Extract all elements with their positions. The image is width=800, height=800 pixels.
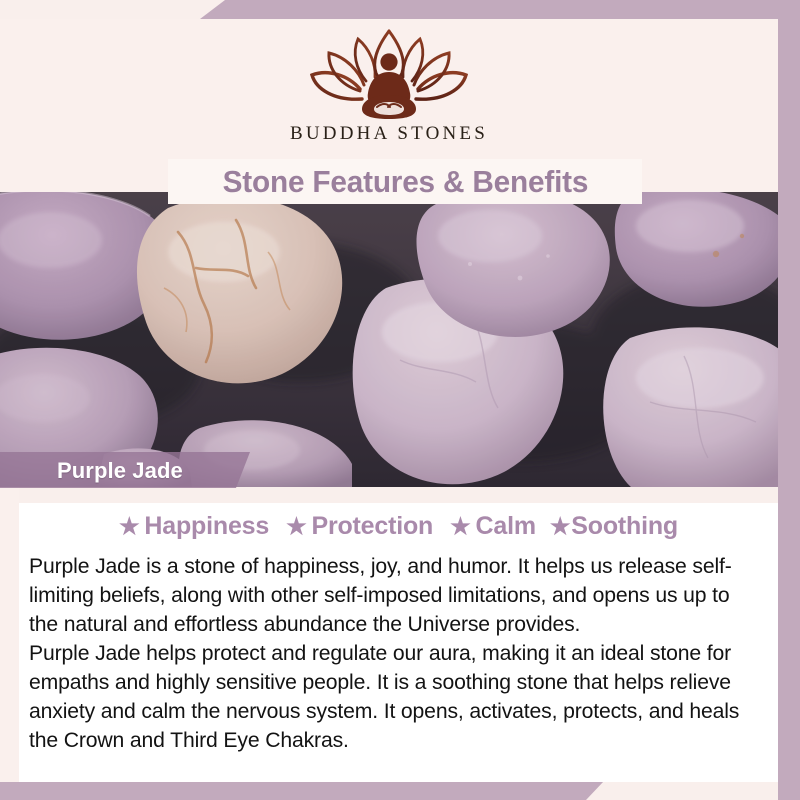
- page-title: Stone Features & Benefits: [222, 164, 588, 200]
- benefit-label: Soothing: [571, 512, 678, 541]
- description-paragraph-2: Purple Jade helps protect and regulate o…: [29, 639, 759, 755]
- benefit-tag-list: ★ Happiness ★ Protection ★ Calm ★ Soothi…: [19, 503, 778, 541]
- stone-name-label: Purple Jade: [57, 458, 183, 484]
- star-icon: ★: [119, 515, 139, 538]
- description-paragraph-1: Purple Jade is a stone of happiness, joy…: [29, 552, 759, 639]
- benefit-label: Protection: [311, 512, 433, 541]
- benefit-tag-calm: ★ Calm: [450, 512, 536, 541]
- benefit-tag-protection: ★ Protection: [286, 512, 433, 541]
- decorative-top-band: [0, 0, 800, 19]
- photo-separator: [19, 487, 778, 503]
- star-icon: ★: [450, 515, 470, 538]
- section-title-bar: Stone Features & Benefits: [168, 159, 642, 204]
- benefit-tag-happiness: ★ Happiness: [119, 512, 269, 541]
- decorative-bottom-band: [0, 781, 800, 800]
- star-icon: ★: [550, 515, 570, 538]
- benefit-tag-soothing: ★ Soothing: [550, 512, 678, 541]
- benefit-label: Calm: [476, 512, 536, 541]
- description-block: Purple Jade is a stone of happiness, joy…: [19, 541, 778, 755]
- lotus-buddha-meditation-icon: [304, 27, 474, 122]
- content-panel: ★ Happiness ★ Protection ★ Calm ★ Soothi…: [19, 503, 778, 782]
- purple-jade-stones-photo: [0, 192, 778, 487]
- brand-wordmark: BUDDHA STONES: [290, 123, 488, 145]
- brand-header: BUDDHA STONES: [0, 19, 778, 174]
- star-icon: ★: [286, 515, 306, 538]
- page-surface: BUDDHA STONES: [0, 19, 778, 782]
- decorative-right-band: [778, 0, 800, 800]
- benefit-label: Happiness: [144, 512, 269, 541]
- stone-name-ribbon: Purple Jade: [0, 452, 250, 488]
